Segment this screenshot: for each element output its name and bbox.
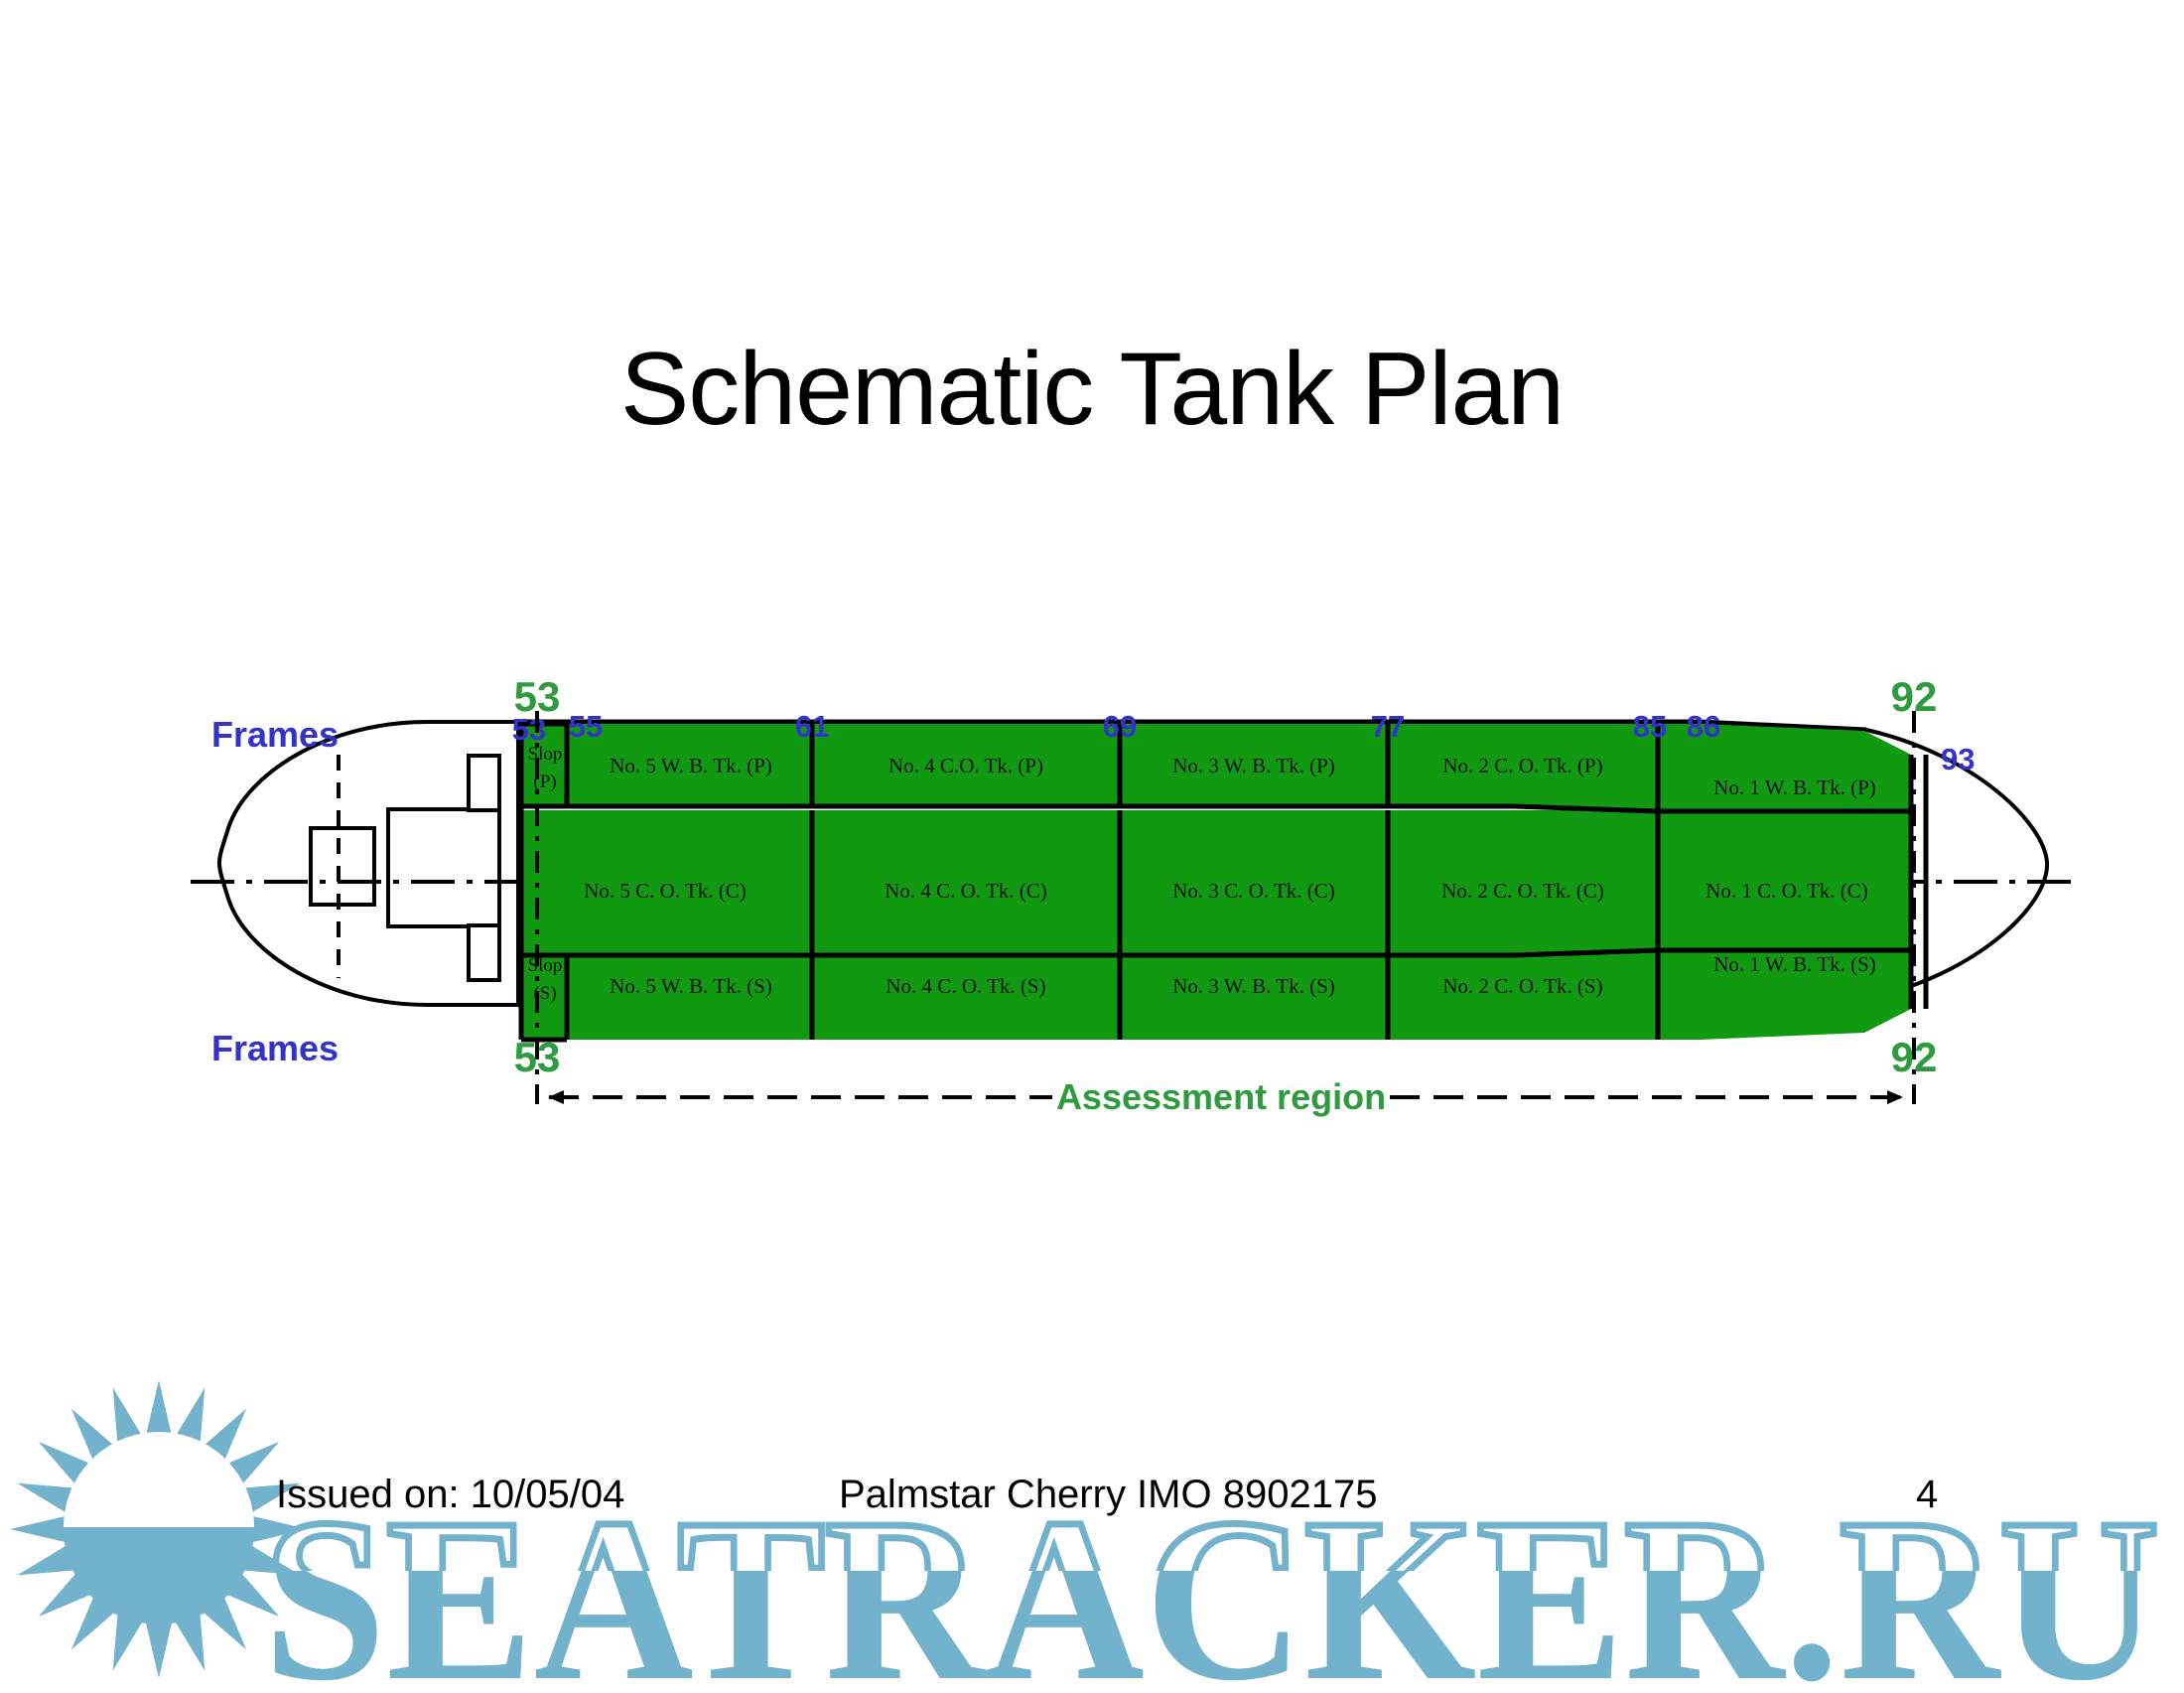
engine-casing-block (311, 828, 374, 905)
assessment-end-bottom: 92 (1891, 1034, 1938, 1080)
frame-number-85: 85 (1633, 709, 1667, 744)
frame-number-69: 69 (1103, 709, 1137, 744)
frame-number-86: 86 (1687, 709, 1720, 744)
tank-label-no4-co-p: No. 4 C.O. Tk. (P) (888, 754, 1043, 777)
footer-vessel-name: Palmstar Cherry IMO 8902175 (839, 1473, 1377, 1517)
footer: Issued on: 10/05/04 Palmstar Cherry IMO … (0, 1473, 2184, 1532)
tank-label-no3-co-c: No. 3 C. O. Tk. (C) (1172, 879, 1335, 903)
tank-label-slop-s-line1: Slop (528, 955, 563, 976)
frame-number-93: 93 (1941, 742, 1975, 776)
tank-label-no2-co-s: No. 2 C. O. Tk. (S) (1442, 974, 1602, 998)
footer-page-number: 4 (1916, 1473, 1938, 1517)
tank-label-slop-p-line1: Slop (528, 744, 563, 765)
accommodation-lower-block (469, 925, 499, 980)
tank-label-no2-co-c: No. 2 C. O. Tk. (C) (1441, 879, 1604, 903)
footer-issued-date: Issued on: 10/05/04 (276, 1473, 624, 1517)
tank-label-no3-wb-p: No. 3 W. B. Tk. (P) (1172, 754, 1335, 777)
frame-number-61: 61 (795, 709, 829, 744)
deckhouse-block (388, 809, 499, 926)
accommodation-upper-block (469, 756, 499, 810)
tank-label-no1-co-c: No. 1 C. O. Tk. (C) (1706, 879, 1868, 903)
tank-label-no4-co-c: No. 4 C. O. Tk. (C) (885, 879, 1047, 903)
schematic-tank-plan-diagram: Slop (P) No. 5 W. B. Tk. (P) No. 4 C.O. … (0, 0, 2184, 1688)
assessment-start-top: 53 (514, 673, 561, 720)
assessment-start-bottom: 53 (514, 1034, 561, 1080)
tank-label-no3-wb-s: No. 3 W. B. Tk. (S) (1172, 974, 1335, 998)
frames-label-top: Frames (211, 714, 339, 755)
tank-label-no5-wb-p: No. 5 W. B. Tk. (P) (610, 754, 772, 777)
frame-number-55: 55 (569, 709, 603, 744)
tank-label-no4-co-s: No. 4 C. O. Tk. (S) (886, 974, 1045, 998)
assessment-region-label: Assessment region (1056, 1076, 1386, 1117)
tank-label-no5-wb-s: No. 5 W. B. Tk. (S) (610, 974, 772, 998)
frames-label-bottom: Frames (211, 1028, 339, 1068)
tank-label-no1-wb-s: No. 1 W. B. Tk. (S) (1713, 952, 1876, 976)
assessment-region-dimension: Assessment region (549, 1076, 1902, 1117)
tank-label-no5-co-c: No. 5 C. O. Tk. (C) (584, 879, 747, 903)
tank-label-no1-wb-p: No. 1 W. B. Tk. (P) (1713, 776, 1876, 799)
tank-plan-svg: Slop (P) No. 5 W. B. Tk. (P) No. 4 C.O. … (0, 0, 2184, 1688)
tank-label-no2-co-p: No. 2 C. O. Tk. (P) (1442, 754, 1602, 777)
assessment-end-top: 92 (1891, 673, 1938, 720)
frame-number-77: 77 (1371, 709, 1405, 744)
